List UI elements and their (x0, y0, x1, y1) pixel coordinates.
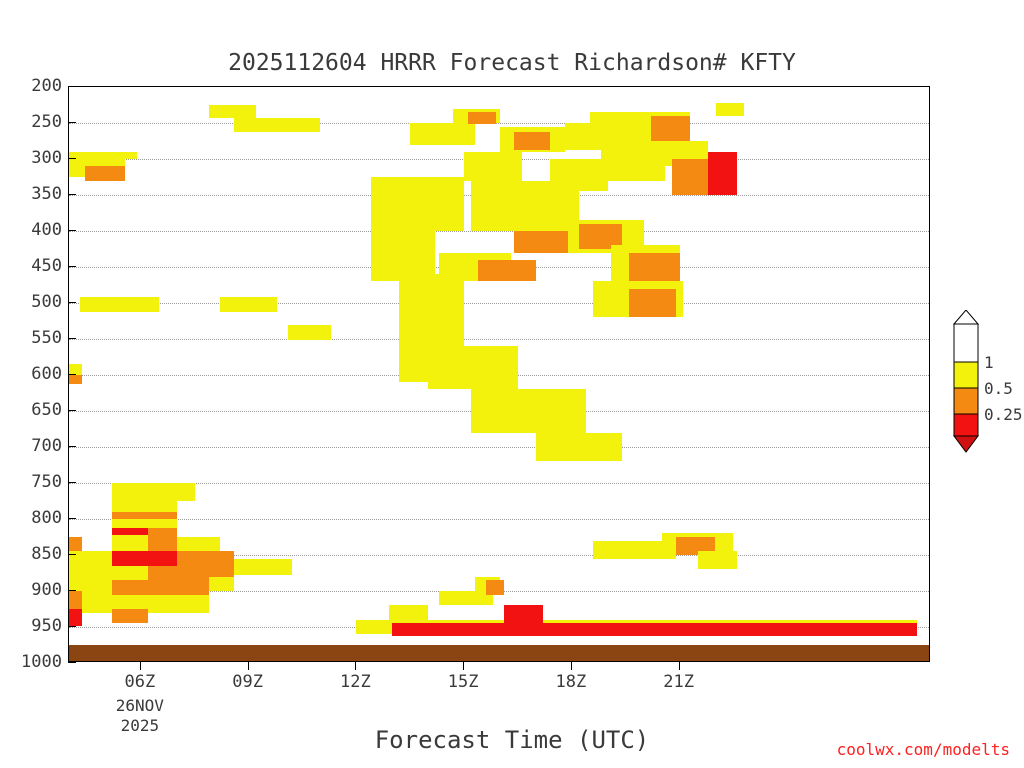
heatmap-cell (514, 132, 550, 151)
y-tick-mark (68, 86, 76, 87)
y-tick-mark (68, 518, 76, 519)
heatmap-cell (112, 595, 148, 609)
heatmap-cell (69, 159, 85, 177)
y-tick-mark (68, 626, 76, 627)
x-tick-label: 12Z (315, 672, 395, 692)
heatmap-cell (410, 123, 475, 145)
y-tick-label: 300 (2, 148, 62, 168)
gridline-horizontal (69, 123, 929, 125)
y-tick-mark (68, 230, 76, 231)
heatmap-cell (177, 595, 209, 613)
heatmap-cell (69, 375, 82, 384)
gridline-horizontal (69, 339, 929, 341)
heatmap-cell (288, 325, 331, 341)
colorbar-label-0point25: 0.25 (984, 405, 1023, 424)
y-tick-label: 250 (2, 112, 62, 132)
heatmap-cell (371, 177, 411, 231)
x-tick-mark (679, 662, 680, 670)
chart-root: 2025112604 HRRR Forecast Richardson# KFT… (0, 0, 1024, 768)
x-tick-mark (248, 662, 249, 670)
heatmap-cell (148, 566, 177, 595)
heatmap-cell (536, 433, 622, 462)
heatmap-cell (112, 519, 177, 528)
heatmap-cell (698, 551, 738, 569)
y-tick-mark (68, 446, 76, 447)
x-tick-label: 06Z (100, 672, 180, 692)
y-tick-mark (68, 194, 76, 195)
y-tick-mark (68, 590, 76, 591)
heatmap-cell (550, 159, 607, 191)
heatmap-cell (148, 528, 177, 552)
y-tick-mark (68, 122, 76, 123)
gridline-horizontal (69, 447, 929, 449)
y-tick-mark (68, 554, 76, 555)
gridline-horizontal (69, 303, 929, 305)
heatmap-cell (69, 537, 82, 551)
gridline-horizontal (69, 519, 929, 521)
heatmap-cell (112, 535, 148, 552)
heatmap-cell (112, 512, 177, 519)
y-tick-mark (68, 662, 76, 663)
ground-band (69, 645, 930, 662)
heatmap-cell (504, 605, 544, 623)
y-tick-mark (68, 338, 76, 339)
y-tick-label: 450 (2, 256, 62, 276)
heatmap-cell (112, 551, 148, 565)
x-tick-mark (140, 662, 141, 670)
heatmap-cell (410, 177, 464, 231)
y-tick-label: 900 (2, 580, 62, 600)
y-tick-label: 400 (2, 220, 62, 240)
x-tick-label: 15Z (423, 672, 503, 692)
y-tick-mark (68, 302, 76, 303)
y-tick-label: 550 (2, 328, 62, 348)
credit-text: coolwx.com/modelts (837, 740, 1010, 759)
heatmap-cell (85, 159, 125, 166)
heatmap-cell (69, 551, 82, 591)
heatmap-cell (112, 580, 148, 594)
heatmap-cell (112, 566, 148, 580)
heatmap-cell (471, 389, 586, 432)
heatmap-cell (177, 577, 209, 595)
y-tick-label: 350 (2, 184, 62, 204)
chart-title: 2025112604 HRRR Forecast Richardson# KFT… (0, 50, 1024, 76)
heatmap-cell (112, 501, 177, 512)
heatmap-cell (85, 152, 137, 159)
heatmap-cell (629, 253, 679, 282)
heatmap-cell (392, 623, 916, 636)
x-tick-mark (571, 662, 572, 670)
heatmap-cell (629, 289, 676, 318)
heatmap-cell (69, 609, 82, 626)
heatmap-cell (428, 346, 518, 389)
heatmap-cell (112, 609, 148, 623)
colorbar-label-1: 1 (984, 353, 994, 372)
y-tick-label: 950 (2, 616, 62, 636)
colorbar-label-0point5: 0.5 (984, 379, 1013, 398)
y-tick-mark (68, 482, 76, 483)
y-tick-label: 800 (2, 508, 62, 528)
x-tick-mark (355, 662, 356, 670)
x-tick-label: 21Z (639, 672, 719, 692)
y-tick-mark (68, 158, 76, 159)
colorbar: 1 0.5 0.25 (940, 310, 1020, 464)
y-tick-mark (68, 410, 76, 411)
heatmap-cell (708, 152, 737, 195)
heatmap-cell (468, 112, 497, 124)
heatmap-cell (514, 231, 568, 253)
y-tick-mark (68, 266, 76, 267)
x-tick-label: 18Z (531, 672, 611, 692)
y-tick-label: 750 (2, 472, 62, 492)
x-axis-sub-label: 26NOV (90, 696, 190, 715)
heatmap-cell (209, 577, 234, 591)
y-tick-label: 700 (2, 436, 62, 456)
y-tick-label: 500 (2, 292, 62, 312)
y-tick-mark (68, 374, 76, 375)
x-tick-mark (463, 662, 464, 670)
heatmap-cell (209, 105, 256, 118)
x-tick-label: 09Z (208, 672, 288, 692)
heatmap-cell (177, 537, 220, 551)
gridline-horizontal (69, 483, 929, 485)
heatmap-cell (389, 605, 429, 619)
heatmap-cell (371, 231, 436, 281)
heatmap-cell (478, 260, 535, 282)
heatmap-cell (112, 528, 148, 535)
y-tick-label: 850 (2, 544, 62, 564)
heatmap-cell (234, 118, 320, 132)
heatmap-plot-area (68, 86, 930, 662)
y-tick-label: 600 (2, 364, 62, 384)
heatmap-cell (148, 595, 177, 613)
y-tick-label: 200 (2, 76, 62, 96)
heatmap-cell (234, 559, 291, 576)
heatmap-cell (464, 152, 521, 181)
heatmap-cell (177, 551, 234, 576)
heatmap-cell (651, 116, 691, 143)
heatmap-cell (486, 580, 504, 594)
gridline-horizontal (69, 231, 929, 233)
heatmap-cell (716, 103, 745, 116)
heatmap-cell (220, 297, 277, 311)
heatmap-cell (80, 297, 159, 311)
heatmap-cell (112, 483, 195, 501)
y-tick-label: 1000 (2, 652, 62, 672)
heatmap-cell (148, 551, 177, 565)
y-tick-label: 650 (2, 400, 62, 420)
heatmap-cell (69, 591, 82, 609)
heatmap-cell (85, 166, 125, 180)
